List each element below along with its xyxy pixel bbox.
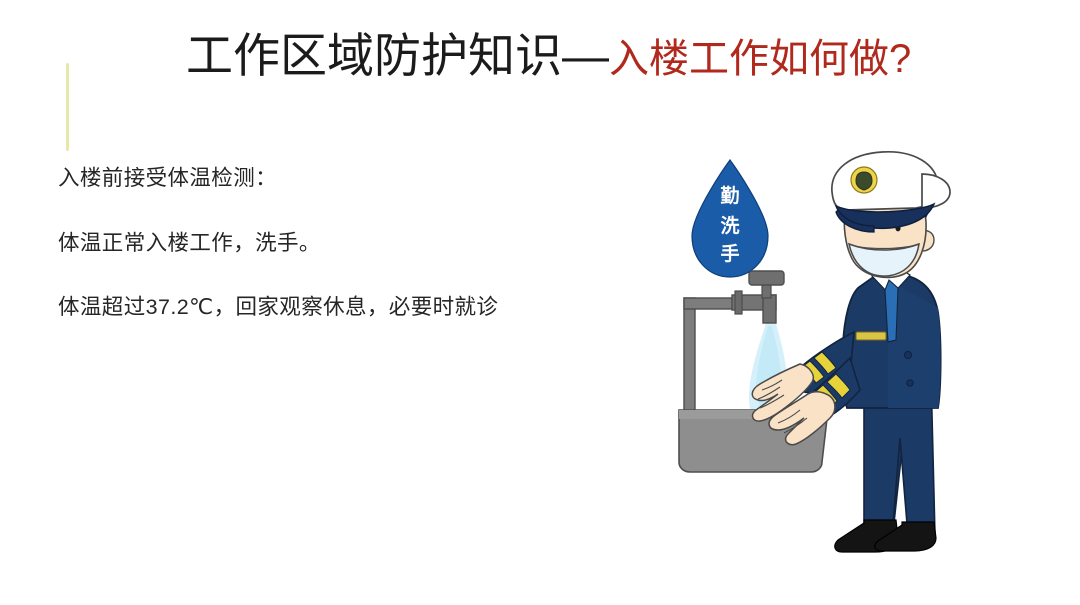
page-title-main: 工作区域防护知识 [186,29,562,82]
slide-canvas: 工作区域防护知识—入楼工作如何做? 入楼前接受体温检测： 体温正常入楼工作，洗手… [0,0,1080,605]
title-accent-bar [66,63,69,151]
body-copy: 入楼前接受体温检测： 体温正常入楼工作，洗手。 体温超过37.2℃，回家观察休息… [58,168,658,319]
drop-char-3: 手 [720,242,739,265]
drop-char-1: 勤 [720,184,739,207]
guard-shoes [835,520,936,552]
guard-cap [832,152,950,232]
body-line-2: 体温正常入楼工作，洗手。 [58,233,658,255]
page-title: 工作区域防护知识—入楼工作如何做? [186,32,911,79]
page-title-accent: 入楼工作如何做? [609,37,911,81]
guard-body [843,268,941,536]
handwashing-illustration: 勤 洗 手 [650,140,1080,605]
body-line-3: 体温超过37.2℃，回家观察休息，必要时就诊 [58,297,658,319]
drop-char-2: 洗 [720,214,739,237]
page-title-dash: — [562,29,609,82]
body-line-1: 入楼前接受体温检测： [58,168,658,190]
